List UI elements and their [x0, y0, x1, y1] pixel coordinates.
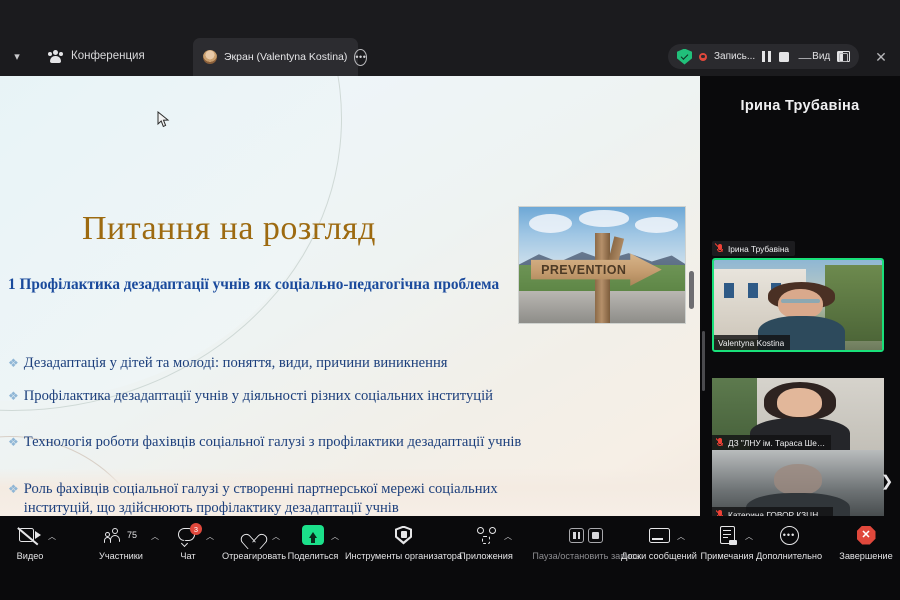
toolbar-button-2[interactable]: 75︿Участники — [84, 523, 158, 575]
presenter-avatar — [203, 50, 217, 64]
end-call-icon: ✕ — [857, 526, 876, 545]
toolbar-icon-wrap: ✕ — [857, 523, 876, 547]
slide-subtitle: 1 Профілактика дезадаптації учнів як соц… — [8, 275, 508, 295]
toolbar-button-4[interactable]: ︿Отреагировать — [219, 523, 289, 575]
bullet-glyph: ❖ — [8, 354, 19, 373]
window-title-bar: ▾ Конференция Экран (Valentyna Kostina) … — [0, 0, 900, 76]
more-icon: ••• — [780, 526, 799, 545]
more-dots-icon[interactable]: ••• — [354, 49, 367, 66]
maximize-icon[interactable] — [824, 40, 862, 74]
toolbar-icon-wrap — [395, 523, 412, 547]
toolbar-icon-wrap: ••• — [780, 523, 799, 547]
toolbar-button-label: Доски сообщений — [621, 551, 697, 561]
chevron-up-icon[interactable]: ︿ — [331, 531, 339, 542]
toolbar-icon-wrap: ︿ — [720, 523, 735, 547]
toolbar-button-label: Инструменты организатора — [345, 551, 462, 561]
mic-muted-icon — [716, 244, 724, 254]
toolbar-button-9[interactable]: ︿Доски сообщений — [614, 523, 704, 575]
toolbar-icon-wrap: ︿ — [19, 523, 41, 547]
slide-bullet-item: ❖Профілактика дезадаптації учнів у діяль… — [8, 387, 528, 406]
active-speaker-heading: Ірина Трубавіна — [700, 98, 900, 114]
toolbar-button-label: Участники — [99, 551, 143, 561]
participants-count: 75 — [127, 530, 137, 540]
toolbar-button-label: Приложения — [459, 551, 513, 561]
pointer-cursor-icon — [157, 111, 170, 128]
toolbar-icon-wrap: 75︿ — [105, 523, 137, 547]
chat-unread-badge: 3 — [190, 523, 202, 535]
minimize-icon[interactable]: — — [786, 40, 824, 74]
bullet-text: Профілактика дезадаптації учнів у діяльн… — [24, 387, 493, 406]
chevron-down-icon[interactable]: ▾ — [0, 36, 34, 76]
recording-status-label: Запись... — [714, 51, 755, 62]
bullet-text: Технологія роботи фахівців соціальної га… — [24, 433, 522, 452]
toolbar-button-label: Отреагировать — [222, 551, 286, 561]
heart-icon — [245, 527, 264, 543]
slide-bullet-item: ❖Дезадаптація у дітей та молоді: поняття… — [8, 354, 528, 373]
participant-name-chip: Valentyna Kostina — [714, 335, 790, 350]
chevron-up-icon[interactable]: ︿ — [151, 531, 159, 542]
toolbar-button-12[interactable]: ✕Завершение — [832, 523, 900, 575]
slide-bullet-item: ❖Роль фахівців соціальної галузі у створ… — [8, 480, 528, 516]
notes-icon — [720, 526, 735, 544]
participant-name-chip: ДЗ "ЛНУ ім. Тараса Ше… — [712, 435, 831, 450]
toolbar-button-5[interactable]: ︿Поделиться — [283, 523, 343, 575]
conference-tab[interactable]: Конференция — [34, 36, 159, 76]
participant-tile[interactable]: Катерина ГОВОР КЗЦН… — [712, 450, 884, 522]
slide-title: Питання на розгляд — [82, 210, 376, 248]
toolbar-button-6[interactable]: Инструменты организатора — [341, 523, 466, 575]
toolbar-icon-wrap: ︿ — [649, 523, 670, 547]
participant-tile[interactable]: Valentyna Kostina — [712, 258, 884, 352]
chevron-up-icon[interactable]: ︿ — [206, 531, 214, 542]
tab-shared-screen-label: Экран (Valentyna Kostina) — [224, 51, 347, 63]
participant-name: ДЗ "ЛНУ ім. Тараса Ше… — [728, 438, 825, 448]
toolbar-icon-wrap: ︿ — [245, 523, 264, 547]
participant-name: Valentyna Kostina — [718, 338, 784, 348]
shield-icon — [395, 526, 412, 545]
toolbar-icon-wrap: 3︿ — [178, 523, 198, 547]
rail-scrollbar[interactable] — [702, 331, 705, 391]
toolbar-button-1[interactable]: ︿Видео — [0, 523, 60, 575]
share-screen-icon — [302, 525, 324, 545]
toolbar-icon-wrap — [569, 523, 603, 547]
record-dot-icon — [699, 53, 707, 61]
toolbar-button-label: Дополнительно — [756, 551, 822, 561]
participant-tile[interactable]: ДЗ "ЛНУ ім. Тараса Ше… — [712, 378, 884, 450]
slide-bullet-item: ❖Технологія роботи фахівців соціальної г… — [8, 433, 528, 452]
toolbar-button-label: Поделиться — [288, 551, 339, 561]
chevron-up-icon[interactable]: ︿ — [677, 531, 685, 542]
stop-icon[interactable] — [588, 528, 603, 543]
record-controls-icon — [569, 528, 603, 543]
chevron-right-icon[interactable]: ❯ — [878, 472, 896, 490]
meeting-toolbar: ︿Видео75︿Участники3︿Чат︿Отреагировать︿По… — [0, 516, 900, 600]
toolbar-button-label: Примечания — [700, 551, 753, 561]
apps-icon — [477, 527, 496, 544]
conference-label: Конференция — [71, 50, 145, 62]
active-speaker-chip: Ірина Трубавіна — [712, 241, 795, 256]
toolbar-button-label: Завершение — [839, 551, 892, 561]
close-icon[interactable]: ✕ — [862, 40, 900, 74]
bullet-glyph: ❖ — [8, 480, 19, 516]
tab-shared-screen[interactable]: Экран (Valentyna Kostina) ••• — [193, 38, 358, 76]
shared-screen-stage[interactable]: Питання на розгляд 1 Профілактика дезада… — [0, 76, 700, 516]
shared-content-scrollbar[interactable] — [689, 271, 694, 309]
participants-rail: Ірина Трубавіна Ірина Трубавіна Valentyn… — [700, 76, 900, 516]
people-icon — [48, 50, 63, 63]
chat-icon: 3 — [178, 527, 198, 543]
toolbar-button-label: Чат — [180, 551, 195, 561]
chevron-up-icon[interactable]: ︿ — [48, 531, 56, 542]
active-speaker-chip-label: Ірина Трубавіна — [728, 244, 789, 254]
signpost-text: PREVENTION — [541, 263, 626, 277]
whiteboard-icon — [649, 528, 670, 543]
shield-check-icon — [677, 49, 692, 65]
window-controls: — ✕ — [786, 40, 900, 74]
bullet-text: Роль фахівців соціальної галузі у створе… — [24, 480, 528, 516]
chevron-up-icon[interactable]: ︿ — [272, 531, 280, 542]
presentation-slide: Питання на розгляд 1 Профілактика дезада… — [0, 76, 700, 516]
bullet-glyph: ❖ — [8, 433, 19, 452]
toolbar-icon-wrap: ︿ — [302, 523, 324, 547]
prevention-signpost-image: PREVENTION — [518, 206, 686, 324]
participants-icon — [105, 528, 124, 543]
bullet-glyph: ❖ — [8, 387, 19, 406]
pause-icon[interactable] — [569, 528, 584, 543]
pause-icon[interactable] — [762, 51, 772, 62]
toolbar-button-3[interactable]: 3︿Чат — [163, 523, 213, 575]
video-off-icon — [19, 528, 41, 542]
mic-muted-icon — [716, 438, 724, 448]
bullet-text: Дезадаптація у дітей та молоді: поняття,… — [24, 354, 448, 373]
toolbar-button-label: Видео — [17, 551, 44, 561]
toolbar-icon-wrap: ︿ — [477, 523, 496, 547]
toolbar-button-11[interactable]: •••Дополнительно — [748, 523, 830, 575]
